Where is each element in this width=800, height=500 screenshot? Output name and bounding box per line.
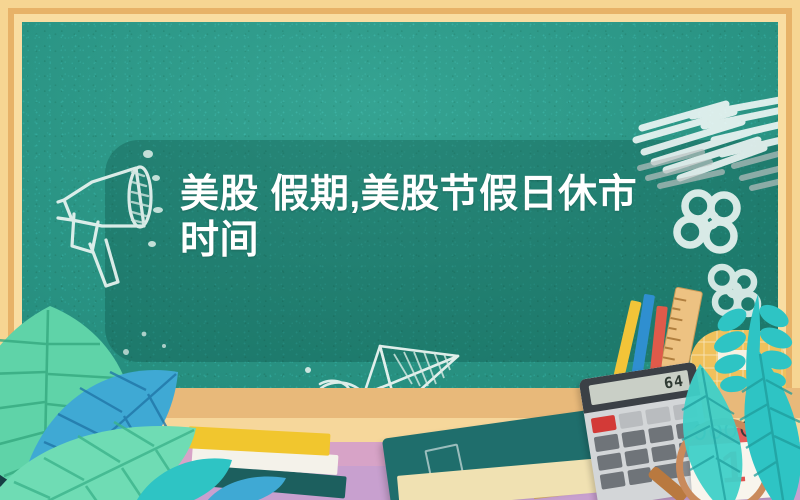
- chalk-scribble-smudge-icon: [630, 82, 778, 200]
- blue-leaf-small: [200, 470, 290, 500]
- banner-image: 美股 假期,美股节假日休市时间 64: [0, 0, 800, 500]
- page-title: 美股 假期,美股节假日休市时间: [180, 172, 650, 264]
- teal-frond-front: [648, 358, 768, 500]
- calculator-key: [597, 452, 623, 470]
- calculator-key: [591, 415, 617, 433]
- calculator-key: [621, 429, 647, 447]
- calculator-key: [600, 471, 626, 489]
- calculator-key: [624, 448, 650, 466]
- calculator-key: [594, 434, 620, 452]
- calculator-key: [618, 411, 644, 429]
